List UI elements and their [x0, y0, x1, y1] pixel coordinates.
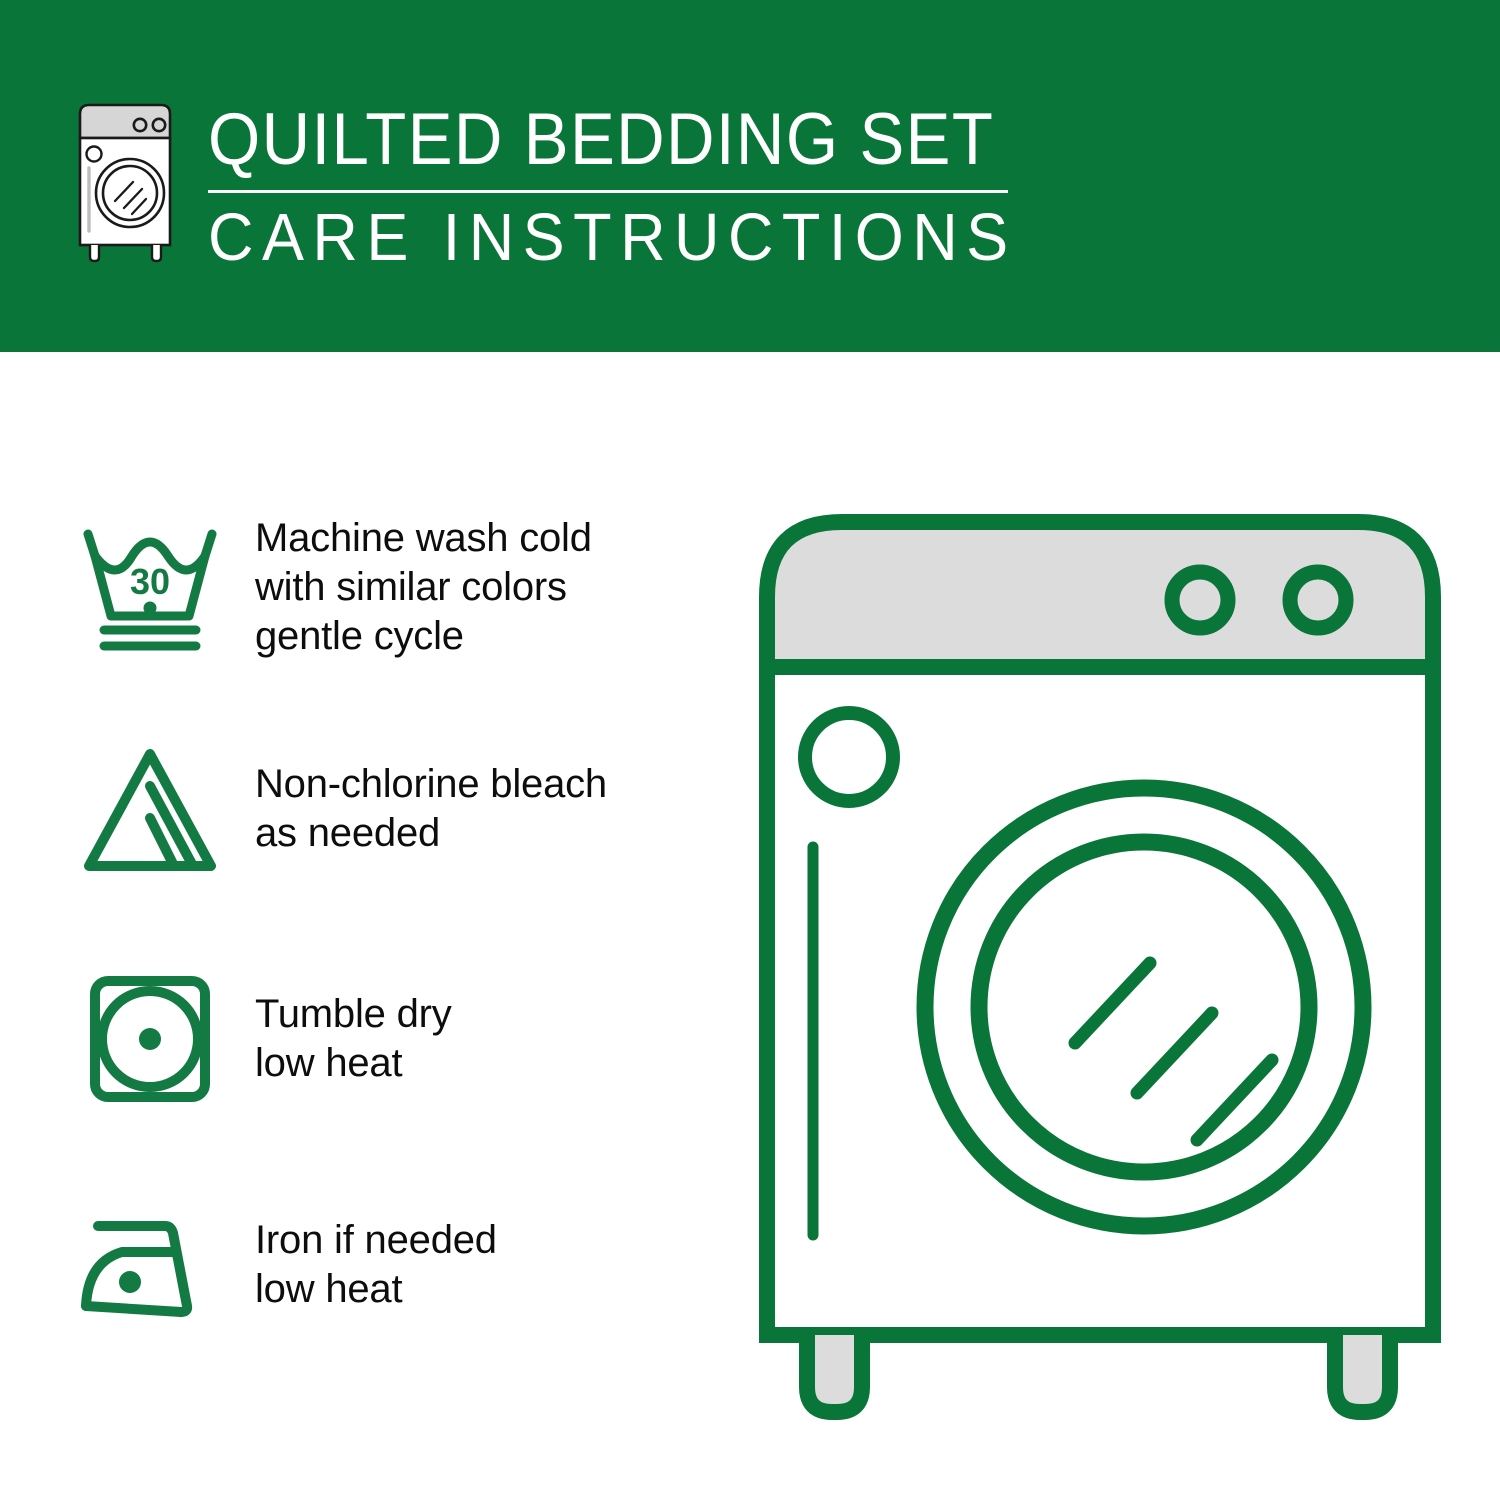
title-divider — [208, 190, 1008, 193]
care-item-line: as needed — [255, 809, 607, 858]
wash-tub-30-gentle-icon: 30 — [70, 512, 230, 662]
header-content: QUILTED BEDDING SET CARE INSTRUCTIONS — [60, 98, 1068, 273]
washing-machine-icon — [60, 98, 190, 268]
care-item-bleach: Non-chlorine bleach as needed — [70, 734, 710, 884]
care-instruction-list: 30 Machine wash cold with similar colors… — [0, 352, 720, 1500]
care-item-line: gentle cycle — [255, 612, 592, 661]
control-panel — [767, 522, 1433, 667]
page-title: QUILTED BEDDING SET — [208, 102, 999, 178]
care-item-line: Non-chlorine bleach — [255, 760, 607, 809]
care-item-iron: Iron if needed low heat — [70, 1190, 710, 1340]
care-item-line: low heat — [255, 1265, 497, 1314]
care-item-line: Tumble dry — [255, 990, 452, 1039]
care-item-line: Machine wash cold — [255, 514, 592, 563]
iron-low-heat-icon — [70, 1190, 230, 1340]
care-item-machine-wash: 30 Machine wash cold with similar colors… — [70, 512, 710, 662]
non-chlorine-bleach-triangle-icon — [70, 734, 230, 884]
machine-body — [767, 667, 1433, 1335]
title-block: QUILTED BEDDING SET CARE INSTRUCTIONS — [208, 98, 1068, 273]
leg-left — [807, 1335, 862, 1412]
wash-temperature-label: 30 — [130, 561, 170, 602]
care-item-line: Iron if needed — [255, 1216, 497, 1265]
care-item-text: Machine wash cold with similar colors ge… — [255, 514, 592, 661]
header-banner: QUILTED BEDDING SET CARE INSTRUCTIONS — [0, 0, 1500, 352]
care-item-tumble-dry: Tumble dry low heat — [70, 964, 710, 1114]
leg-right — [1335, 1335, 1390, 1412]
tumble-dry-low-icon — [70, 964, 230, 1114]
care-item-text: Tumble dry low heat — [255, 990, 452, 1088]
washing-machine-illustration — [745, 495, 1455, 1430]
care-item-line: low heat — [255, 1039, 452, 1088]
care-item-line: with similar colors — [255, 563, 592, 612]
page-subtitle: CARE INSTRUCTIONS — [208, 203, 1017, 273]
care-item-text: Iron if needed low heat — [255, 1216, 497, 1314]
care-item-text: Non-chlorine bleach as needed — [255, 760, 607, 858]
